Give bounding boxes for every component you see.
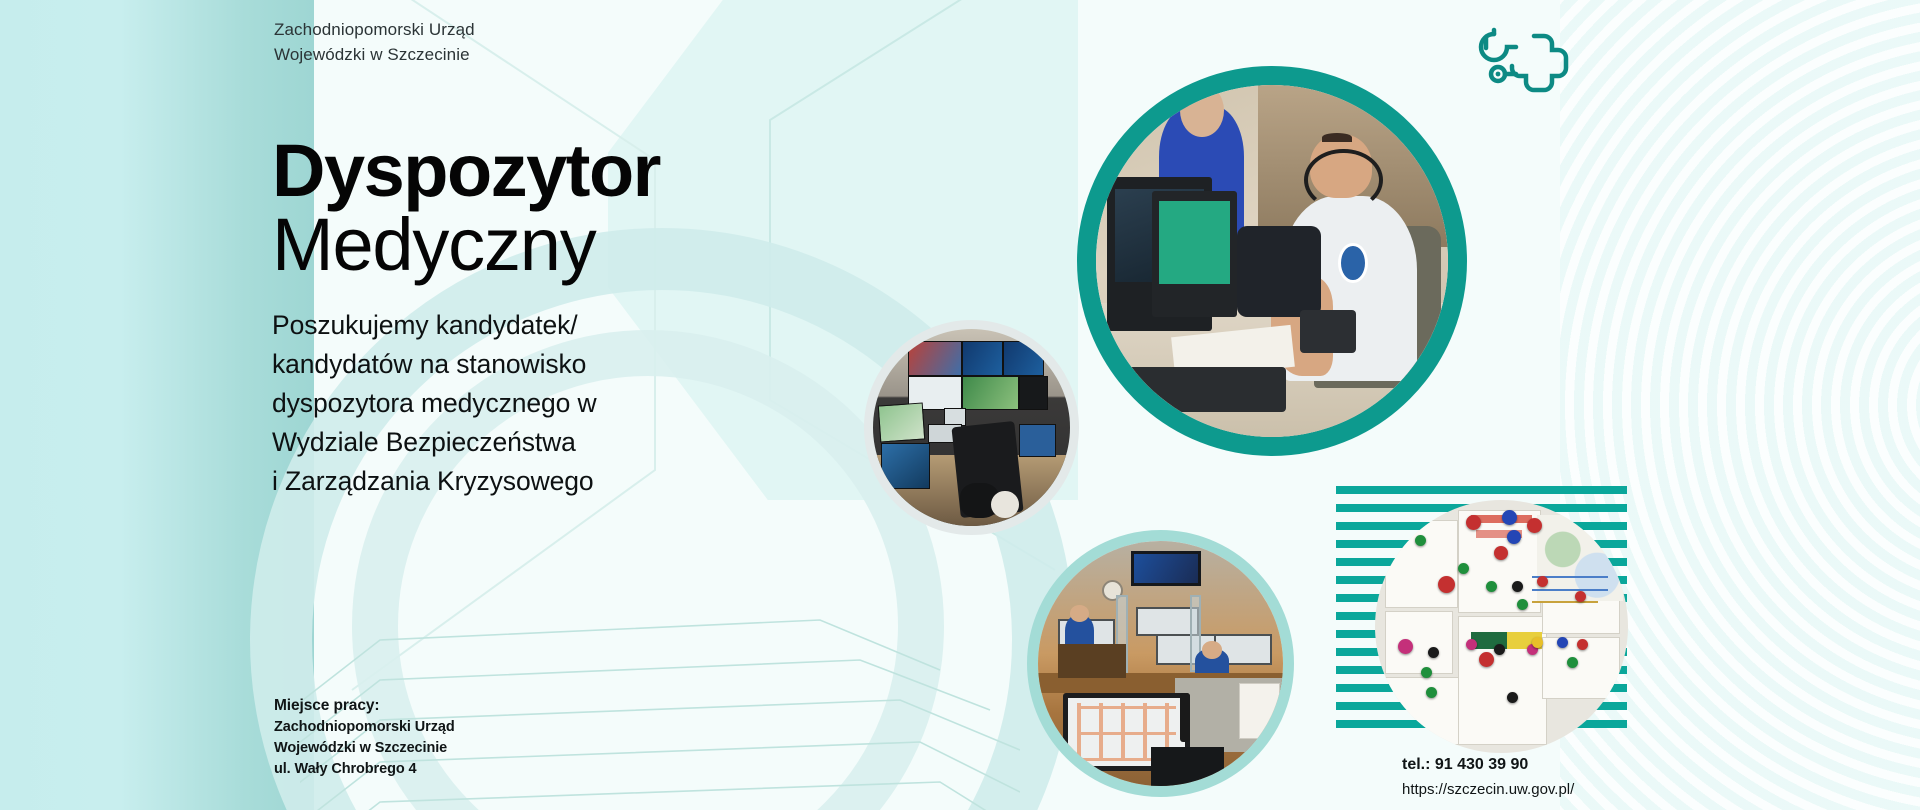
stethoscope-cross-icon: [1478, 14, 1578, 104]
workplace-heading: Miejsce pracy:: [274, 695, 455, 717]
workplace-block: Miejsce pracy: Zachodniopomorski Urząd W…: [274, 695, 455, 780]
photo-pinboard-with-documents: [1375, 500, 1628, 753]
contact-website-link[interactable]: https://szczecin.uw.gov.pl/: [1402, 778, 1574, 802]
contact-phone: tel.: 91 430 39 90: [1402, 752, 1574, 778]
photo-dispatcher-at-workstation: [1077, 66, 1467, 456]
page-title-secondary: Medyczny: [272, 206, 596, 284]
workplace-line-3: ul. Wały Chrobrego 4: [274, 759, 455, 780]
photo-dispatch-room-overview: [1027, 530, 1294, 797]
photo-control-room-monitor-wall: [864, 320, 1079, 535]
organisation-line-1: Zachodniopomorski Urząd: [274, 17, 475, 42]
lede-line-1: Poszukujemy kandydatek/: [272, 306, 702, 345]
lede-line-5: i Zarządzania Kryzysowego: [272, 462, 702, 501]
organisation-name: Zachodniopomorski Urząd Wojewódzki w Szc…: [274, 17, 475, 67]
contact-block: tel.: 91 430 39 90 https://szczecin.uw.g…: [1402, 752, 1574, 802]
lede-line-3: dyspozytora medycznego w: [272, 384, 702, 423]
lede-line-2: kandydatów na stanowisko: [272, 345, 702, 384]
lede-paragraph: Poszukujemy kandydatek/ kandydatów na st…: [272, 306, 702, 501]
organisation-line-2: Wojewódzki w Szczecinie: [274, 42, 475, 67]
workplace-line-1: Zachodniopomorski Urząd: [274, 717, 455, 738]
workplace-line-2: Wojewódzki w Szczecinie: [274, 738, 455, 759]
left-gradient-band: [0, 0, 314, 810]
page-title-primary: Dyspozytor: [272, 132, 660, 210]
lede-line-4: Wydziale Bezpieczeństwa: [272, 423, 702, 462]
poster-root: Zachodniopomorski Urząd Wojewódzki w Szc…: [0, 0, 1920, 810]
